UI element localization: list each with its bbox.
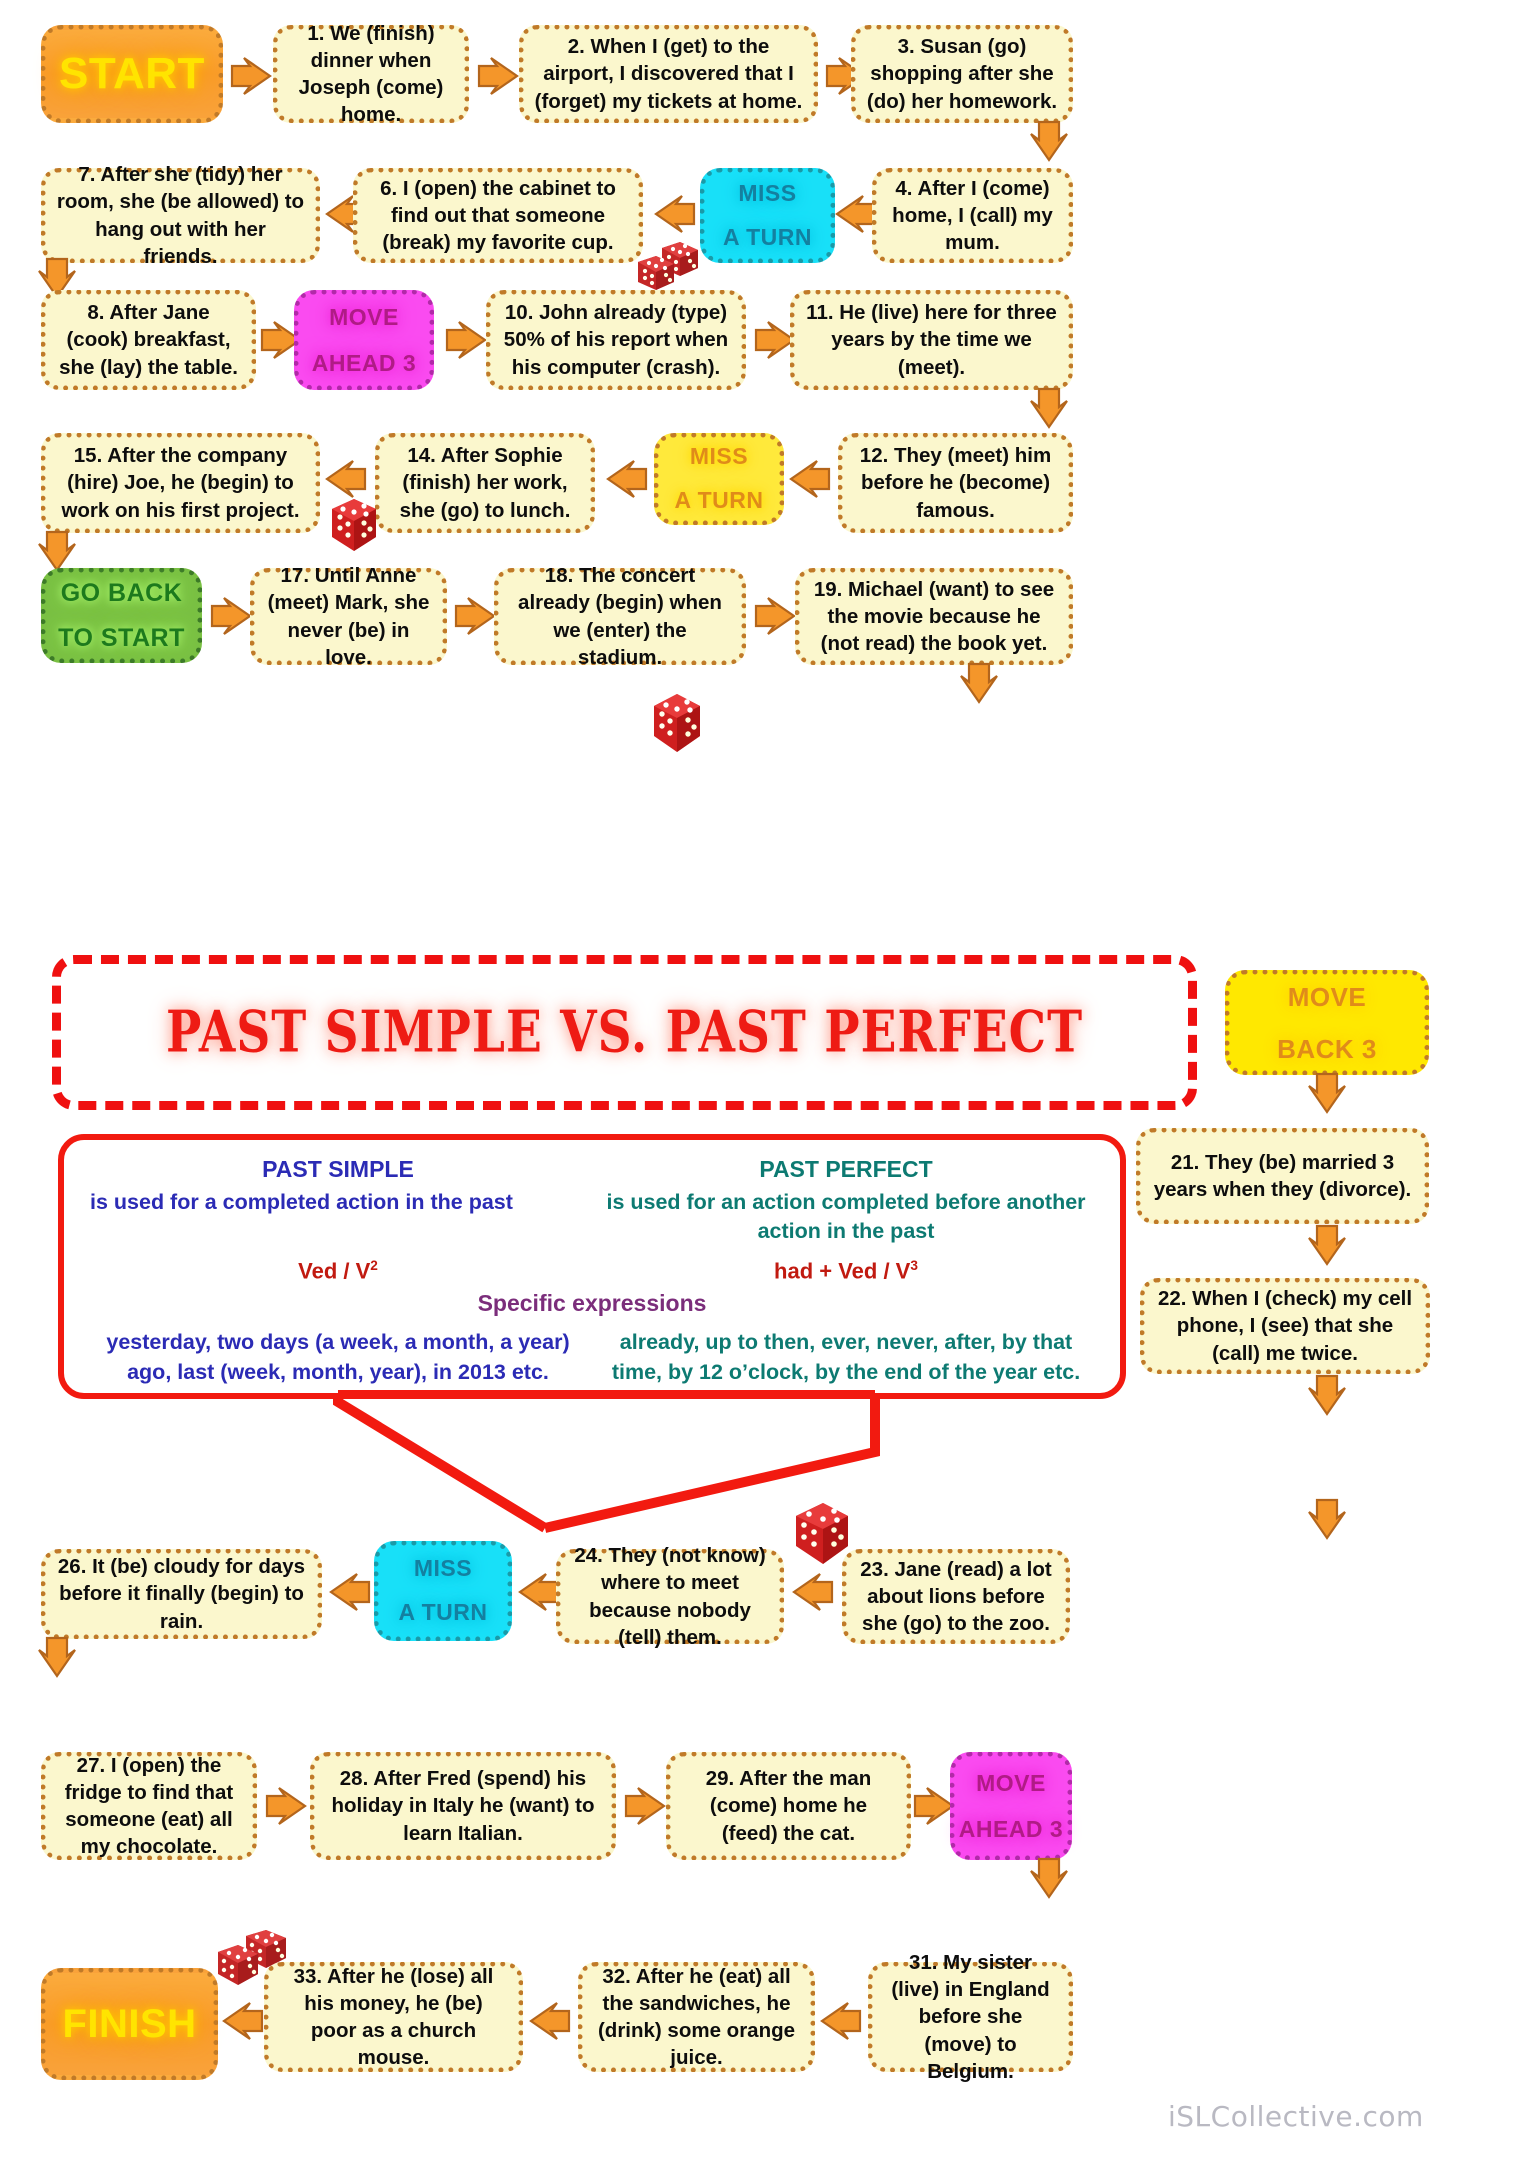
cell-question-10[interactable]: 10. John already (type) 50% of his repor…	[486, 290, 746, 390]
past-perfect-description: is used for an action completed before a…	[598, 1188, 1094, 1246]
cell-question-3[interactable]: 3. Susan (go) shopping after she (do) he…	[851, 25, 1073, 123]
arrow-right-start-to-1	[228, 55, 274, 97]
arrow-right-27-to-28	[263, 1785, 309, 1827]
arrow-right-28-to-29	[622, 1785, 668, 1827]
past-simple-heading: PAST SIMPLE	[90, 1156, 586, 1183]
cell-question-26[interactable]: 26. It (be) cloudy for days before it fi…	[41, 1549, 322, 1639]
tile-miss-line1: MISS	[690, 435, 748, 479]
tile-miss-line2: A TURN	[674, 479, 763, 523]
tile-miss-a-turn-1[interactable]: MISS A TURN	[700, 168, 835, 263]
tile-miss-line2: A TURN	[398, 1591, 487, 1635]
grammar-head-row: PAST SIMPLE is used for a completed acti…	[84, 1156, 1100, 1246]
tile-start-label: START	[59, 49, 205, 99]
cell-question-23[interactable]: 23. Jane (read) a lot about lions before…	[842, 1549, 1070, 1644]
grammar-form-row: Ved / V2 had + Ved / V3	[84, 1246, 1100, 1284]
arrow-down-moveback-col-to-23	[1306, 1496, 1348, 1542]
cell-question-12[interactable]: 12. They (meet) him before he (become) f…	[838, 433, 1073, 533]
cell-text: 1. We (finish) dinner when Joseph (come)…	[288, 20, 454, 128]
tile-move-line2: AHEAD 3	[312, 340, 416, 386]
arrow-left-33-to-finish	[220, 2000, 266, 2042]
worksheet-title-banner: PAST SIMPLE VS. PAST PERFECT	[52, 955, 1197, 1110]
cell-text: 2. When I (get) to the airport, I discov…	[534, 33, 803, 114]
cell-question-14[interactable]: 14. After Sophie (finish) her work, she …	[375, 433, 595, 533]
tile-move-ahead-3-1[interactable]: MOVE AHEAD 3	[294, 290, 434, 390]
cell-text: 31. My sister (live) in England before s…	[883, 1949, 1058, 2084]
cell-text: 4. After I (come) home, I (call) my mum.	[887, 175, 1058, 256]
past-perfect-heading: PAST PERFECT	[598, 1156, 1094, 1183]
arrow-down-22-to-23	[1306, 1372, 1348, 1418]
grammar-col-form-perfect: had + Ved / V3	[592, 1246, 1100, 1284]
tile-miss-a-turn-3[interactable]: MISS A TURN	[374, 1541, 512, 1641]
cell-text: 23. Jane (read) a lot about lions before…	[857, 1556, 1055, 1637]
tile-move-back-3[interactable]: MOVE BACK 3	[1225, 970, 1429, 1075]
tile-miss-a-turn-2[interactable]: MISS A TURN	[654, 433, 784, 525]
cell-question-8[interactable]: 8. After Jane (cook) breakfast, she (lay…	[41, 290, 256, 390]
arrow-down-3-to-4	[1028, 118, 1070, 164]
arrow-down-26-to-27	[36, 1634, 78, 1680]
specific-expressions-heading: Specific expressions	[84, 1290, 1100, 1317]
dice-single-icon-1	[326, 495, 382, 557]
arrow-left-14-to-15	[323, 458, 369, 500]
cell-text: 6. I (open) the cabinet to find out that…	[368, 175, 628, 256]
cell-question-22[interactable]: 22. When I (check) my cell phone, I (see…	[1140, 1278, 1430, 1374]
cell-text: 27. I (open) the fridge to find that som…	[56, 1752, 242, 1860]
grammar-col-form-simple: Ved / V2	[84, 1246, 592, 1284]
grammar-explanation-bubble: PAST SIMPLE is used for a completed acti…	[58, 1134, 1126, 1399]
grammar-col-past-perfect: PAST PERFECT is used for an action compl…	[592, 1156, 1100, 1246]
dice-single-icon-2	[648, 690, 706, 758]
tile-miss-line1: MISS	[738, 172, 796, 216]
cell-text: 28. After Fred (spend) his holiday in It…	[325, 1765, 601, 1846]
cell-question-19[interactable]: 19. Michael (want) to see the movie beca…	[795, 568, 1073, 665]
cell-question-33[interactable]: 33. After he (lose) all his money, he (b…	[264, 1962, 523, 2072]
tile-move-line2: AHEAD 3	[959, 1806, 1063, 1852]
arrow-left-32-to-33	[527, 2000, 573, 2042]
cell-text: 24. They (not know) where to meet becaus…	[571, 1542, 769, 1650]
arrow-right-17-to-18	[452, 595, 498, 637]
page-title: PAST SIMPLE VS. PAST PERFECT	[166, 999, 1083, 1066]
tile-miss-line2: A TURN	[723, 216, 812, 260]
cell-text: 8. After Jane (cook) breakfast, she (lay…	[56, 299, 241, 380]
tile-miss-line1: MISS	[414, 1547, 472, 1591]
cell-text: 33. After he (lose) all his money, he (b…	[279, 1963, 508, 2071]
cell-text: 18. The concert already (begin) when we …	[509, 562, 731, 670]
arrow-left-23-to-24	[790, 1571, 836, 1613]
tile-move-line1: MOVE	[1288, 971, 1367, 1023]
arrow-down-moveback-to-21	[1306, 1070, 1348, 1116]
tile-goback-line2: TO START	[58, 616, 185, 661]
board-game-worksheet: START 1. We (finish) dinner when Joseph …	[0, 0, 1532, 2167]
cell-text: 19. Michael (want) to see the movie beca…	[810, 576, 1058, 657]
tile-move-ahead-3-2[interactable]: MOVE AHEAD 3	[950, 1752, 1072, 1860]
cell-question-17[interactable]: 17. Until Anne (meet) Mark, she never (b…	[250, 568, 447, 665]
arrow-left-missturn2-to-14	[604, 458, 650, 500]
past-simple-formula: Ved / V2	[90, 1258, 586, 1284]
cell-question-29[interactable]: 29. After the man (come) home he (feed) …	[666, 1752, 911, 1860]
arrow-left-31-to-32	[818, 2000, 864, 2042]
cell-text: 11. He (live) here for three years by th…	[805, 299, 1058, 380]
arrow-left-missturn-to-6	[652, 193, 698, 235]
cell-question-32[interactable]: 32. After he (eat) all the sandwiches, h…	[578, 1962, 815, 2072]
cell-text: 17. Until Anne (meet) Mark, she never (b…	[265, 562, 432, 670]
tile-move-line2: BACK 3	[1277, 1023, 1377, 1075]
tile-move-line1: MOVE	[329, 294, 399, 340]
arrow-down-19-to-moveback	[958, 660, 1000, 706]
cell-question-21[interactable]: 21. They (be) married 3 years when they …	[1136, 1128, 1429, 1224]
dice-pair-icon-1	[632, 240, 704, 296]
cell-text: 3. Susan (go) shopping after she (do) he…	[866, 33, 1058, 114]
tile-goback-line1: GO BACK	[61, 571, 183, 616]
arrow-right-goback-to-17	[208, 595, 254, 637]
arrow-right-1-to-2	[475, 55, 521, 97]
arrow-left-missturn3-to-26	[327, 1571, 373, 1613]
tile-go-back-to-start[interactable]: GO BACK TO START	[41, 568, 202, 663]
cell-question-11[interactable]: 11. He (live) here for three years by th…	[790, 290, 1073, 390]
cell-text: 22. When I (check) my cell phone, I (see…	[1155, 1285, 1415, 1366]
arrow-down-moveahead2-to-31	[1028, 1855, 1070, 1901]
grammar-col-past-simple: PAST SIMPLE is used for a completed acti…	[84, 1156, 592, 1246]
arrow-left-12-to-missturn2	[787, 458, 833, 500]
cell-question-2[interactable]: 2. When I (get) to the airport, I discov…	[519, 25, 818, 123]
arrow-down-21-to-22	[1306, 1222, 1348, 1268]
site-watermark: iSLCollective.com	[1168, 2100, 1424, 2133]
cell-text: 14. After Sophie (finish) her work, she …	[390, 442, 580, 523]
cell-text: 7. After she (tidy) her room, she (be al…	[56, 161, 305, 269]
cell-question-4[interactable]: 4. After I (come) home, I (call) my mum.	[872, 168, 1073, 263]
cell-text: 12. They (meet) him before he (become) f…	[853, 442, 1058, 523]
tile-finish-label: FINISH	[62, 2002, 196, 2047]
cell-question-18[interactable]: 18. The concert already (begin) when we …	[494, 568, 746, 665]
cell-text: 21. They (be) married 3 years when they …	[1151, 1149, 1414, 1203]
cell-question-24[interactable]: 24. They (not know) where to meet becaus…	[556, 1549, 784, 1644]
arrow-right-18-to-19	[752, 595, 798, 637]
cell-question-15[interactable]: 15. After the company (hire) Joe, he (be…	[41, 433, 320, 533]
cell-question-31[interactable]: 31. My sister (live) in England before s…	[868, 1962, 1073, 2072]
cell-question-27[interactable]: 27. I (open) the fridge to find that som…	[41, 1752, 257, 1860]
cell-text: 29. After the man (come) home he (feed) …	[681, 1765, 896, 1846]
cell-text: 26. It (be) cloudy for days before it fi…	[56, 1553, 307, 1634]
tile-finish[interactable]: FINISH	[41, 1968, 218, 2080]
past-perfect-formula: had + Ved / V3	[598, 1258, 1094, 1284]
tile-start[interactable]: START	[41, 25, 223, 123]
cell-text: 15. After the company (hire) Joe, he (be…	[56, 442, 305, 523]
cell-text: 32. After he (eat) all the sandwiches, h…	[593, 1963, 800, 2071]
arrow-down-11-to-12	[1028, 385, 1070, 431]
dice-single-icon-3	[790, 1498, 856, 1570]
cell-question-7[interactable]: 7. After she (tidy) her room, she (be al…	[41, 168, 320, 263]
cell-question-1[interactable]: 1. We (finish) dinner when Joseph (come)…	[273, 25, 469, 123]
cell-text: 10. John already (type) 50% of his repor…	[501, 299, 731, 380]
cell-question-28[interactable]: 28. After Fred (spend) his holiday in It…	[310, 1752, 616, 1860]
tile-move-line1: MOVE	[976, 1760, 1046, 1806]
arrow-right-moveahead-to-10	[443, 319, 489, 361]
past-simple-description: is used for a completed action in the pa…	[90, 1188, 586, 1217]
cell-question-6[interactable]: 6. I (open) the cabinet to find out that…	[353, 168, 643, 263]
